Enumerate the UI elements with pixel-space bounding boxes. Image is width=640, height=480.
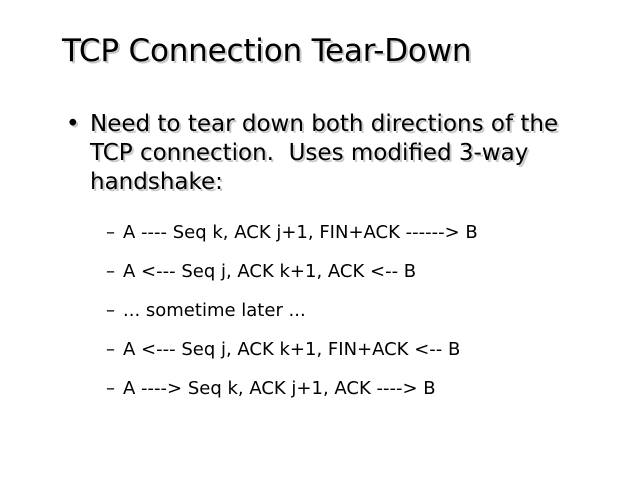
sub-bullet-item: – A <--- Seq j, ACK k+1, FIN+ACK <-- B (106, 337, 606, 376)
presentation-slide: TCP Connection Tear-Down • Need to tear … (0, 0, 640, 480)
sub-bullet-dash-icon: – (106, 337, 115, 363)
sub-bullet-item: – A ---- Seq k, ACK j+1, FIN+ACK ------>… (106, 220, 606, 259)
slide-body: • Need to tear down both directions of t… (66, 110, 596, 197)
bullet-marker-icon: • (66, 110, 88, 139)
sub-bullet-list: – A ---- Seq k, ACK j+1, FIN+ACK ------>… (106, 220, 606, 415)
sub-bullet-dash-icon: – (106, 376, 115, 402)
sub-bullet-dash-icon: – (106, 298, 115, 324)
sub-bullet-item: – A ----> Seq k, ACK j+1, ACK ----> B (106, 376, 606, 415)
sub-bullet-dash-icon: – (106, 259, 115, 285)
sub-bullet-item: – A <--- Seq j, ACK k+1, ACK <-- B (106, 259, 606, 298)
bullet-item: • Need to tear down both directions of t… (66, 110, 596, 197)
sub-bullet-text: A <--- Seq j, ACK k+1, ACK <-- B (123, 259, 416, 285)
bullet-line: Need to tear down both directions of the (90, 110, 596, 139)
bullet-line: handshake: (90, 168, 596, 197)
sub-bullet-text: ... sometime later ... (123, 298, 306, 324)
bullet-line: TCP connection. Uses modified 3-way (90, 139, 596, 168)
sub-bullet-text: A ----> Seq k, ACK j+1, ACK ----> B (123, 376, 436, 402)
bullet-text: Need to tear down both directions of the… (90, 110, 596, 197)
slide-title: TCP Connection Tear-Down (62, 33, 471, 69)
sub-bullet-dash-icon: – (106, 220, 115, 246)
sub-bullet-text: A ---- Seq k, ACK j+1, FIN+ACK ------> B (123, 220, 478, 246)
sub-bullet-item: – ... sometime later ... (106, 298, 606, 337)
sub-bullet-text: A <--- Seq j, ACK k+1, FIN+ACK <-- B (123, 337, 460, 363)
